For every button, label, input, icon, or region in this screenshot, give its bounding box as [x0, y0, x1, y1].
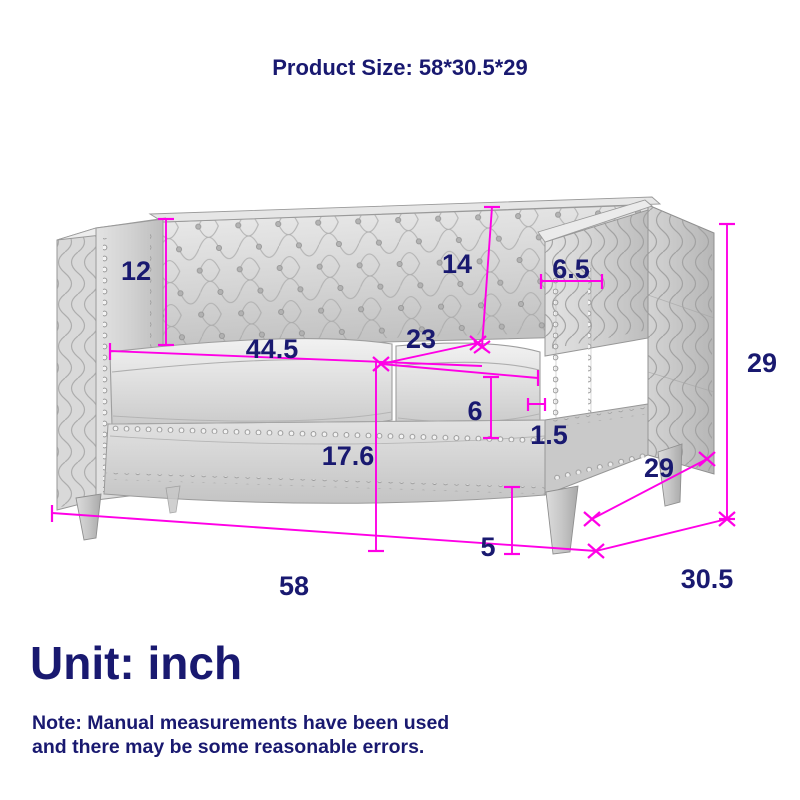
dimension-label-6: 6: [467, 396, 482, 426]
dimension-line-29-height: [719, 224, 735, 519]
dimension-line-30-5: [596, 512, 735, 551]
dimension-label-23: 23: [406, 324, 436, 354]
dimension-label-14: 14: [442, 249, 472, 279]
diagram-canvas: 12 14 6.5 44.5 23 6 1.5 17.6 5 29 29 58 …: [0, 0, 800, 800]
dimension-label-5: 5: [480, 532, 495, 562]
unit-label: Unit: inch: [30, 640, 242, 686]
dimension-line-1-5: [528, 398, 545, 411]
dimension-line-12: [158, 219, 174, 345]
dimension-label-1-5: 1.5: [530, 420, 568, 450]
dimension-label-29-side: 29: [644, 453, 674, 483]
dimension-label-30-5: 30.5: [681, 564, 734, 594]
dimension-label-29-height: 29: [747, 348, 777, 378]
note-line-2: and there may be some reasonable errors.: [32, 736, 672, 760]
dimension-label-44-5: 44.5: [246, 334, 299, 364]
note-line-1: Note: Manual measurements have been used: [32, 712, 672, 736]
dimension-line-6: [483, 377, 499, 438]
dimension-label-17-6: 17.6: [322, 441, 375, 471]
note-text: Note: Manual measurements have been used…: [32, 712, 672, 760]
dimension-line-58: [52, 505, 604, 558]
dimension-label-6-5: 6.5: [552, 254, 590, 284]
dimension-label-58: 58: [279, 571, 309, 601]
dimension-label-12: 12: [121, 256, 151, 286]
page-title: Product Size: 58*30.5*29: [0, 55, 800, 81]
dimension-line-seat-front: [381, 364, 538, 386]
dimension-line-14: [474, 207, 500, 353]
